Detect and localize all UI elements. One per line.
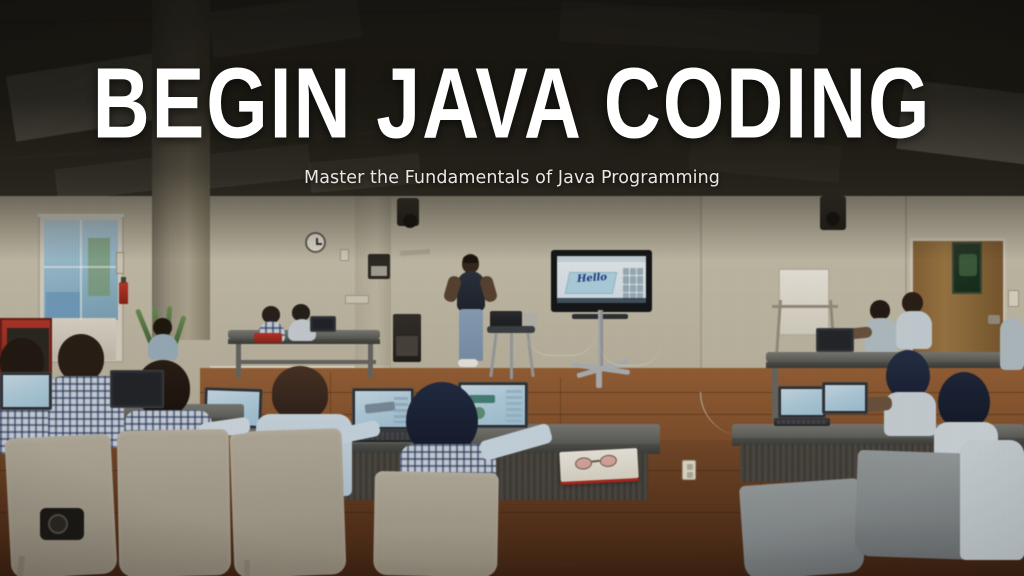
wall-corner: [355, 196, 391, 376]
display-tool[interactable]: [630, 268, 636, 275]
instructor-shoe: [458, 359, 478, 367]
laptop: [110, 370, 164, 408]
door-handle: [988, 315, 1000, 324]
glasses-bridge: [592, 460, 600, 462]
instructor-jeans: [459, 309, 483, 361]
wall-plate: [340, 249, 349, 261]
fire-extinguisher-sign: [116, 252, 124, 274]
backpack-logo: [48, 514, 68, 534]
display-tool[interactable]: [623, 276, 629, 283]
laptop-keys: [777, 420, 827, 424]
display-tool[interactable]: [630, 285, 636, 292]
display-tool[interactable]: [623, 285, 629, 292]
student-head: [58, 334, 104, 382]
instructor-hair: [463, 255, 478, 263]
student-hijab: [886, 350, 930, 398]
framed-poster: [952, 242, 982, 294]
student-torso: [884, 392, 936, 436]
display-tool[interactable]: [637, 285, 643, 292]
presenter-laptop: [490, 311, 522, 327]
display-status-bar: [557, 298, 646, 303]
chair: [229, 428, 346, 576]
interactive-display[interactable]: Hello: [551, 250, 652, 312]
light-switch: [1008, 290, 1019, 307]
student-torso: [896, 311, 932, 349]
display-tool[interactable]: [637, 268, 643, 275]
wall-speaker: [397, 198, 419, 226]
display-screen[interactable]: Hello: [557, 256, 646, 303]
table-leg: [510, 333, 513, 379]
wall-outlet: [682, 460, 696, 480]
laptop-screen: [313, 319, 333, 329]
display-stand-foot: [596, 366, 602, 388]
laptop-screen: [819, 331, 851, 349]
display-tool[interactable]: [637, 276, 643, 283]
chair-leg: [244, 560, 250, 576]
laptop-screen: [825, 385, 865, 411]
display-tool[interactable]: [630, 276, 636, 283]
classroom-photo: Hello: [0, 0, 1024, 576]
display-tool-palette[interactable]: [623, 268, 643, 300]
student-hijab: [938, 372, 990, 428]
pencil-case: [254, 333, 282, 343]
laptop: [822, 382, 868, 414]
student-torso: [148, 334, 178, 360]
presenter-device: [524, 313, 537, 327]
laptop-keyboard: [774, 418, 830, 426]
laptop: [816, 328, 854, 352]
door-header: [38, 214, 124, 217]
laptop-screen: [113, 373, 161, 405]
display-handwriting-text: Hello: [577, 272, 608, 285]
wall-clock: [305, 232, 326, 253]
chair: [373, 471, 499, 576]
student-torso: [960, 440, 1024, 560]
student-head: [902, 292, 923, 313]
chair: [117, 429, 232, 576]
chair: [4, 433, 117, 576]
storage-cart: [393, 314, 421, 362]
display-tool[interactable]: [623, 268, 629, 275]
laptop: [0, 372, 52, 410]
laptop-screen-toolbar: [506, 390, 522, 422]
student-head: [272, 366, 328, 420]
student-head: [870, 300, 890, 320]
banner-image: Hello: [0, 0, 1024, 576]
laptop: [778, 386, 826, 418]
student-torso: [1000, 318, 1024, 370]
glasses-lens: [574, 457, 592, 471]
laptop-screen: [3, 375, 49, 407]
instructor-shirt: [457, 271, 485, 311]
door-mullion: [80, 220, 82, 320]
laptop-screen: [781, 389, 823, 415]
desk-crossbar: [236, 360, 376, 364]
glasses-lens: [599, 454, 617, 468]
wall-phone: [368, 254, 390, 279]
laptop: [310, 316, 336, 332]
chair: [739, 478, 865, 576]
wall-notice: [345, 295, 369, 304]
structural-column: [152, 0, 210, 340]
display-stand-pole: [598, 310, 603, 368]
fire-extinguisher: [119, 282, 128, 304]
display-app-toolbar: [557, 256, 646, 262]
flipchart-crossbar: [772, 305, 838, 308]
flipchart-whiteboard: [778, 268, 830, 336]
laptop-screen-content: [365, 401, 396, 413]
wall-speaker: [820, 196, 846, 230]
